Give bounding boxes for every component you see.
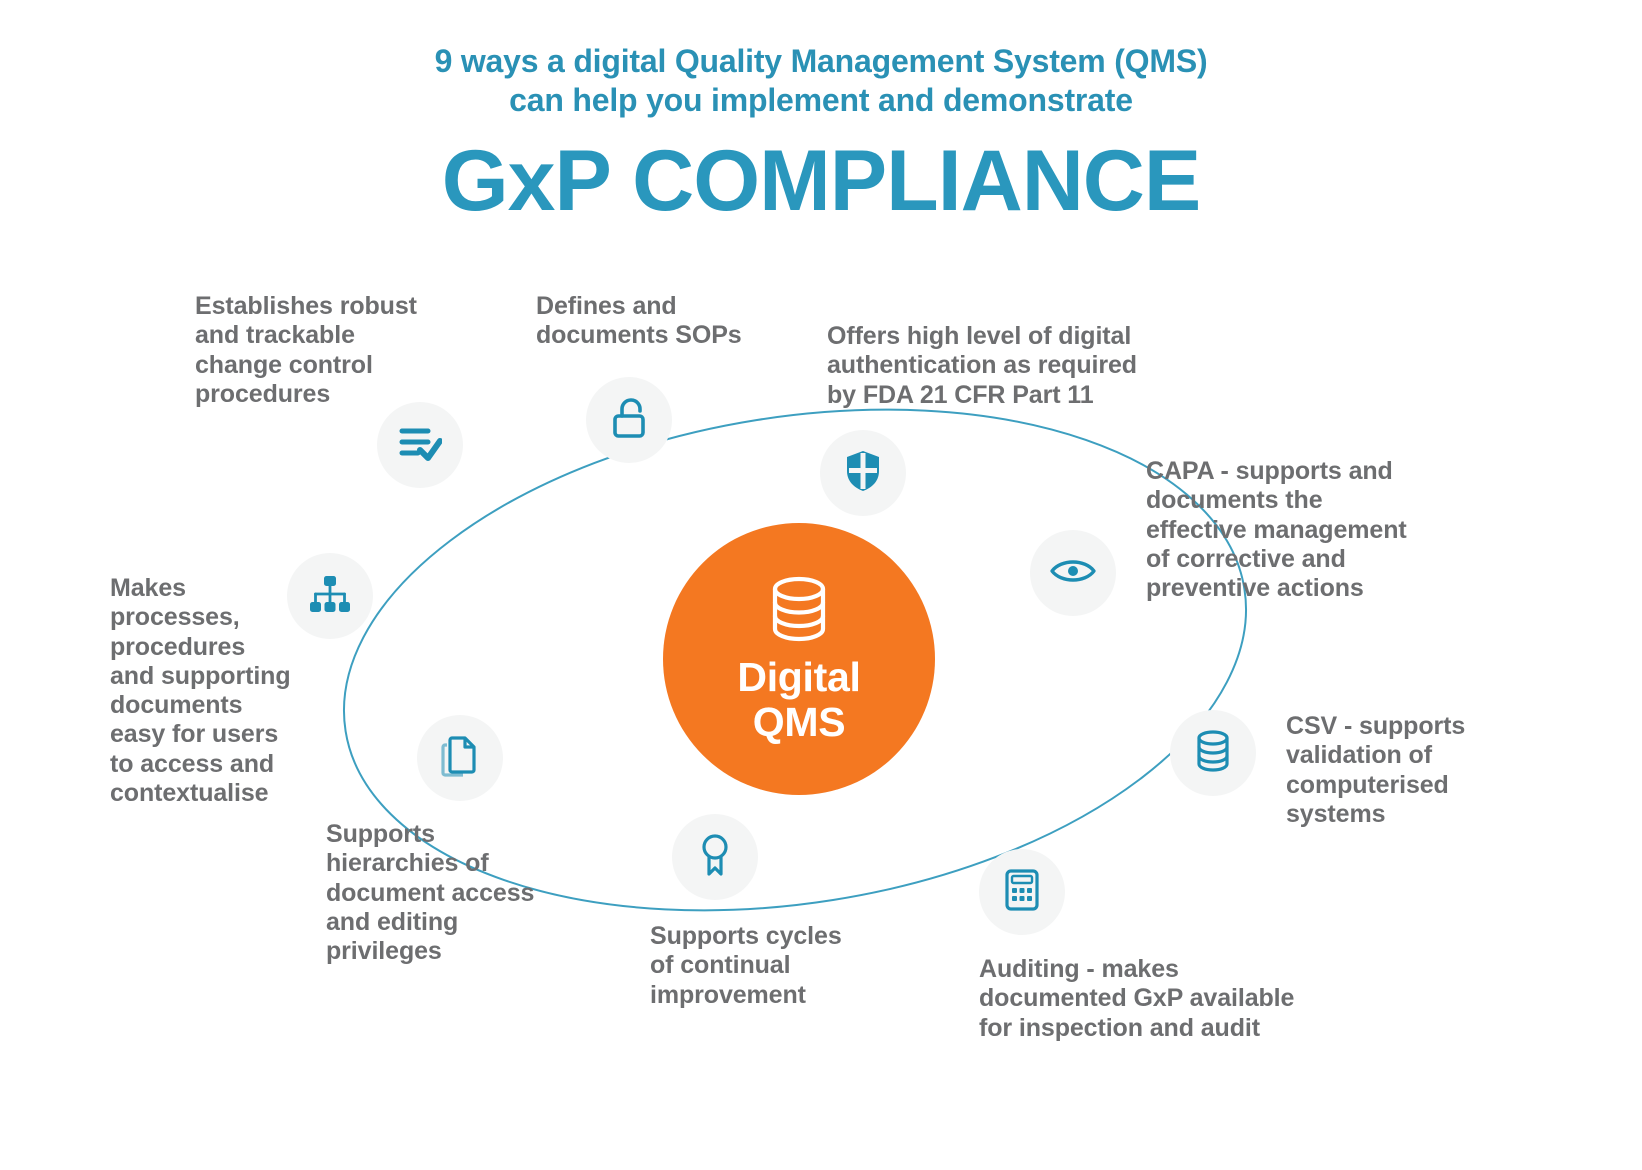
caption-line: of corrective and: [1146, 545, 1546, 574]
center-node-digital-qms[interactable]: Digital QMS: [663, 523, 935, 795]
calculator-icon: [1002, 868, 1042, 917]
caption-accessibility: Makes processes, procedures and supporti…: [110, 574, 360, 808]
caption-line: privileges: [326, 937, 686, 966]
database-icon: [1193, 729, 1233, 778]
caption-capa: CAPA - supports and documents the effect…: [1146, 457, 1546, 603]
caption-csv: CSV - supports validation of computerise…: [1286, 712, 1626, 829]
caption-line: improvement: [650, 981, 980, 1010]
infographic-canvas: 9 ways a digital Quality Management Syst…: [0, 0, 1642, 1170]
caption-line: and supporting: [110, 662, 360, 691]
caption-line: Supports cycles: [650, 922, 980, 951]
caption-change-control: Establishes robust and trackable change …: [195, 292, 525, 409]
caption-line: effective management: [1146, 516, 1546, 545]
caption-line: procedures: [110, 633, 360, 662]
caption-line: documents SOPs: [536, 321, 836, 350]
caption-line: processes,: [110, 603, 360, 632]
award-icon: [698, 833, 732, 882]
caption-line: systems: [1286, 800, 1626, 829]
caption-continual-improvement: Supports cycles of continual improvement: [650, 922, 980, 1010]
eye-icon: [1049, 555, 1097, 592]
node-auditing[interactable]: [979, 849, 1065, 935]
caption-line: of continual: [650, 951, 980, 980]
caption-line: Supports: [326, 820, 686, 849]
caption-line: hierarchies of: [326, 849, 686, 878]
caption-line: Auditing - makes: [979, 955, 1399, 984]
caption-line: Establishes robust: [195, 292, 525, 321]
caption-line: and editing: [326, 908, 686, 937]
node-capa[interactable]: [1030, 530, 1116, 616]
caption-auditing: Auditing - makes documented GxP availabl…: [979, 955, 1399, 1043]
node-document-access[interactable]: [417, 715, 503, 801]
caption-line: Makes: [110, 574, 360, 603]
caption-line: CAPA - supports and: [1146, 457, 1546, 486]
caption-sops: Defines and documents SOPs: [536, 292, 836, 351]
caption-line: Offers high level of digital: [827, 322, 1247, 351]
caption-line: CSV - supports: [1286, 712, 1626, 741]
checklist-icon: [398, 423, 442, 468]
documents-icon: [440, 734, 480, 783]
unlock-icon: [609, 396, 649, 445]
node-sops[interactable]: [586, 377, 672, 463]
center-label-line-1: Digital: [737, 654, 860, 700]
node-csv[interactable]: [1170, 710, 1256, 796]
node-change-control[interactable]: [377, 402, 463, 488]
caption-line: documents: [110, 691, 360, 720]
caption-line: by FDA 21 CFR Part 11: [827, 381, 1247, 410]
diagram: Digital QMS Establishes robust and track…: [0, 0, 1642, 1170]
caption-line: documented GxP available: [979, 984, 1399, 1013]
caption-line: documents the: [1146, 486, 1546, 515]
database-icon: [766, 574, 832, 649]
caption-line: procedures: [195, 380, 525, 409]
center-label-line-2: QMS: [737, 700, 860, 744]
caption-line: validation of: [1286, 741, 1626, 770]
caption-line: contextualise: [110, 779, 360, 808]
node-authentication[interactable]: [820, 430, 906, 516]
caption-line: easy for users: [110, 720, 360, 749]
caption-line: document access: [326, 879, 686, 908]
caption-line: change control: [195, 351, 525, 380]
shield-icon: [844, 449, 882, 498]
caption-document-access: Supports hierarchies of document access …: [326, 820, 686, 966]
caption-authentication: Offers high level of digital authenticat…: [827, 322, 1247, 410]
caption-line: computerised: [1286, 771, 1626, 800]
caption-line: authentication as required: [827, 351, 1247, 380]
center-node-label: Digital QMS: [737, 655, 860, 744]
caption-line: and trackable: [195, 321, 525, 350]
caption-line: to access and: [110, 750, 360, 779]
caption-line: Defines and: [536, 292, 836, 321]
caption-line: preventive actions: [1146, 574, 1546, 603]
caption-line: for inspection and audit: [979, 1014, 1399, 1043]
